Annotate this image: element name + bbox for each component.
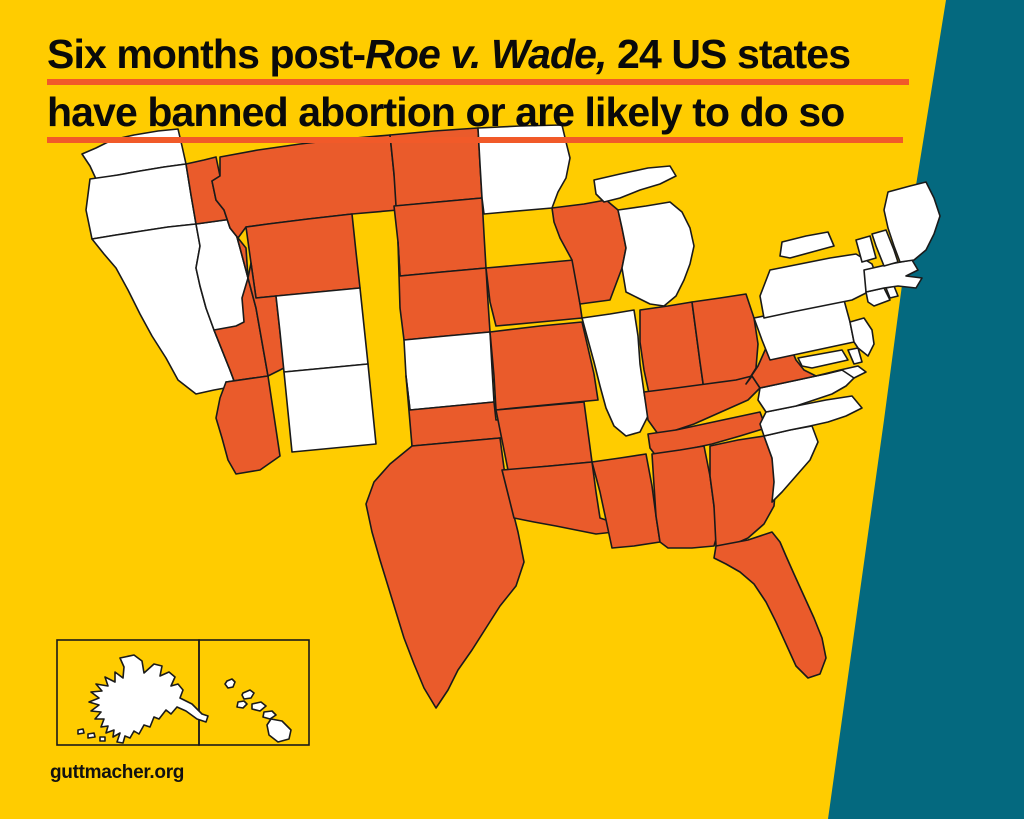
source-brand[interactable]: guttmacher.org bbox=[50, 762, 184, 784]
headline-line-2: have banned abortion or are likely to do… bbox=[47, 90, 927, 143]
headline-rule-2 bbox=[47, 137, 903, 143]
headline-part-a: Six months post- bbox=[47, 31, 365, 77]
state-MO[interactable] bbox=[490, 322, 598, 410]
state-TX[interactable] bbox=[366, 438, 524, 708]
state-FL[interactable] bbox=[714, 532, 826, 678]
page-title: Six months post-Roe v. Wade, 24 US state… bbox=[47, 32, 927, 148]
infographic-canvas: Six months post-Roe v. Wade, 24 US state… bbox=[0, 0, 1024, 819]
state-AR[interactable] bbox=[496, 402, 592, 470]
state-GA[interactable] bbox=[710, 436, 776, 546]
state-NY[interactable] bbox=[780, 232, 834, 258]
state-AL[interactable] bbox=[652, 446, 718, 548]
us-choropleth-map bbox=[0, 118, 1024, 758]
map-svg bbox=[0, 118, 1024, 758]
state-KS[interactable] bbox=[404, 332, 494, 410]
state-NM[interactable] bbox=[284, 364, 376, 452]
state-CO[interactable] bbox=[276, 288, 368, 372]
state-MI[interactable] bbox=[618, 202, 694, 306]
state-AZ[interactable] bbox=[216, 376, 280, 474]
headline-rule-1 bbox=[47, 79, 909, 85]
state-HI[interactable] bbox=[225, 679, 291, 742]
state-OH[interactable] bbox=[692, 294, 758, 390]
headline-line-1: Six months post-Roe v. Wade, 24 US state… bbox=[47, 32, 927, 85]
state-IA[interactable] bbox=[486, 260, 582, 326]
state-MI[interactable] bbox=[594, 166, 676, 202]
headline-case-name: Roe v. Wade, bbox=[365, 31, 606, 77]
state-WY[interactable] bbox=[246, 214, 360, 298]
headline-part-b: 24 US states bbox=[607, 31, 851, 77]
state-SD[interactable] bbox=[394, 198, 486, 276]
state-AK[interactable] bbox=[78, 655, 208, 743]
headline-line-2-text: have banned abortion or are likely to do… bbox=[47, 89, 844, 135]
